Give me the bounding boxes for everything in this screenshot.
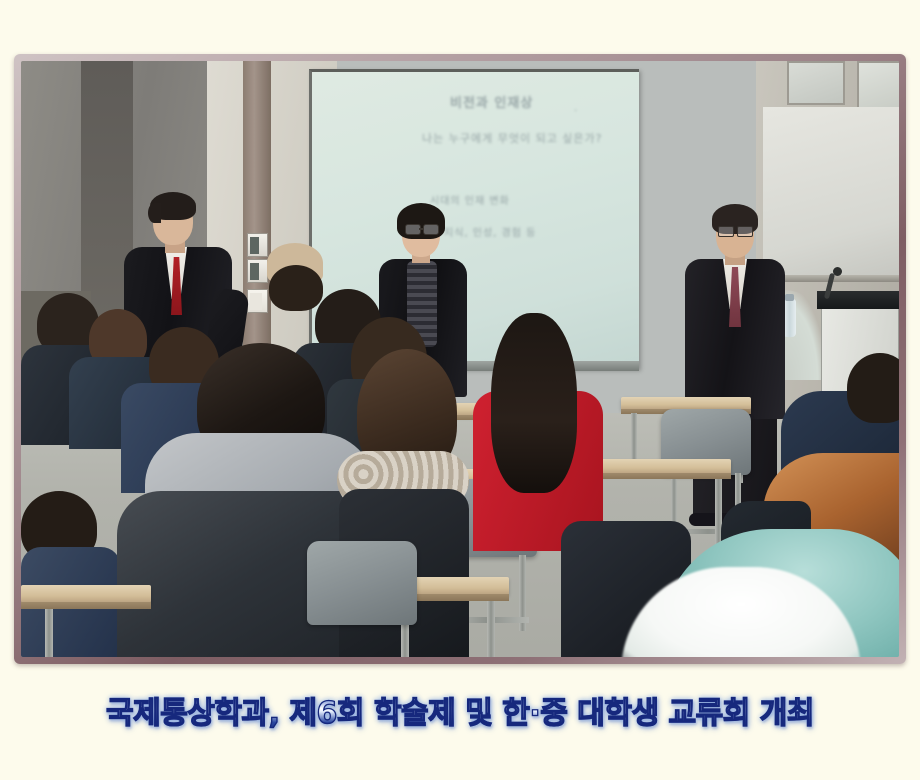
glasses-bridge-icon	[419, 228, 424, 230]
audience-head	[847, 353, 899, 423]
wall-pillar	[243, 61, 271, 391]
audience-long-hair	[491, 313, 577, 493]
slide-line-2: 시대의 인재 변화	[430, 192, 510, 207]
window-pane	[787, 61, 845, 105]
window-pane	[857, 61, 899, 109]
lecture-hall-photo: 비전과 인재상 · 나는 누구에게 무엇이 되고 싶은가? 시대의 인재 변화 …	[21, 61, 899, 657]
page-root: 비전과 인재상 · 나는 누구에게 무엇이 되고 싶은가? 시대의 인재 변화 …	[0, 0, 920, 780]
slide-bullet: ·	[574, 106, 578, 117]
caption: 국제통상학과, 제6회 학술제 및 한·중 대학생 교류회 개최	[0, 688, 920, 732]
wall-switch-icon	[247, 259, 268, 283]
glasses-icon	[423, 224, 439, 235]
slide-title: 비전과 인재상	[450, 92, 533, 111]
desk	[581, 459, 731, 474]
slide-line-3: 지식, 인성, 경험 등	[444, 224, 536, 239]
whiteboard	[763, 107, 899, 282]
desk	[21, 585, 151, 603]
slide-line-1: 나는 누구에게 무엇이 되고 싶은가?	[422, 130, 603, 146]
chair	[307, 541, 417, 625]
water-bottle-cap	[785, 294, 794, 301]
caption-text: 국제통상학과, 제6회 학술제 및 한·중 대학생 교류회 개최	[106, 688, 814, 732]
microphone-head-icon	[833, 267, 842, 276]
glasses-icon	[718, 226, 734, 237]
audience-head	[269, 265, 323, 311]
photo-frame: 비전과 인재상 · 나는 누구에게 무엇이 되고 싶은가? 시대의 인재 변화 …	[14, 54, 906, 664]
desk-edge	[21, 602, 151, 609]
wall-outlet-icon	[247, 289, 268, 313]
glasses-icon	[737, 226, 753, 237]
speaker-left-hair-side	[148, 203, 161, 223]
desk-edge	[581, 473, 731, 479]
wall-switch-icon	[247, 233, 268, 257]
desk-leg	[45, 609, 53, 657]
desk-leg	[487, 601, 495, 657]
